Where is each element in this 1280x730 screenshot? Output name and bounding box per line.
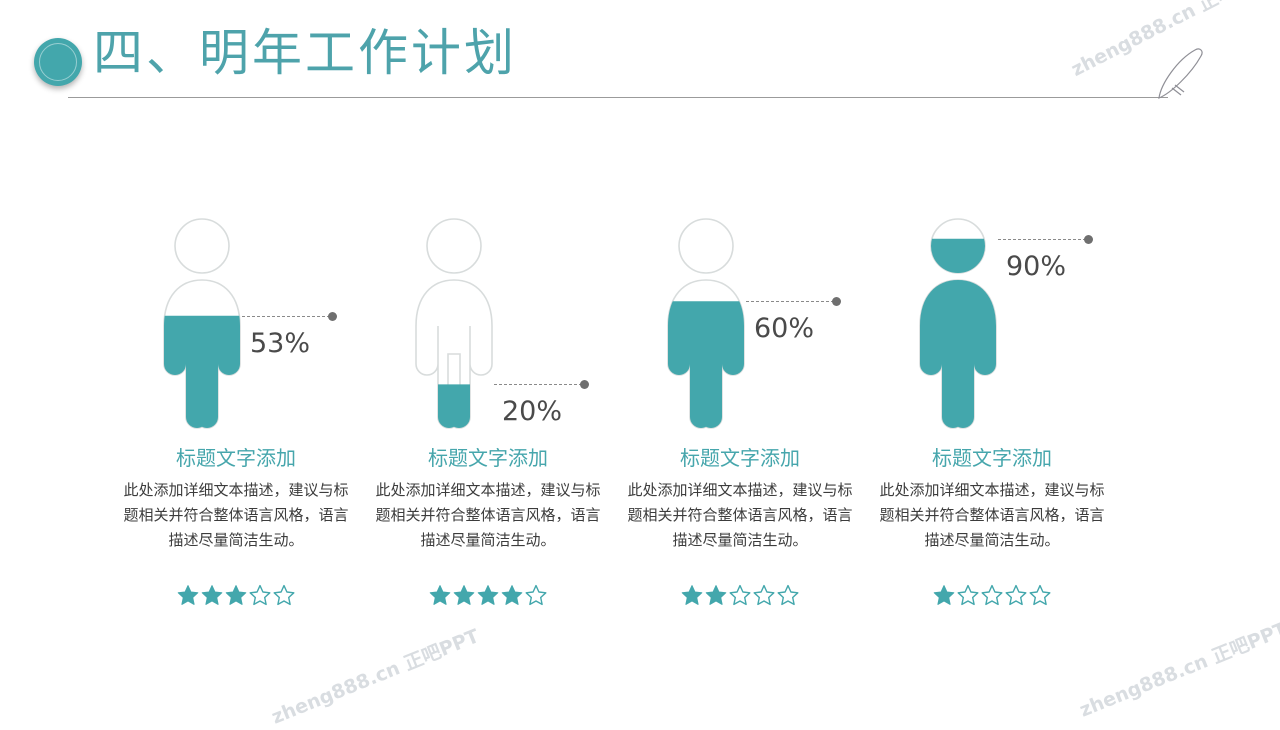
leader-line: [494, 384, 582, 386]
column-body-text: 此处添加详细文本描述，建议与标题相关并符合整体语言风格，语言描述尽量简洁生动。: [626, 478, 854, 553]
percent-label: 53%: [250, 328, 310, 359]
leader-dot-marker: [1084, 235, 1093, 244]
leader-line: [998, 239, 1086, 241]
leader-line: [746, 301, 834, 303]
slide-header: 四、明年工作计划: [0, 0, 1280, 110]
rating-stars[interactable]: [614, 583, 866, 607]
percent-label: 90%: [1006, 251, 1066, 282]
person-pictogram: 60%: [634, 214, 846, 434]
leader-line: [242, 316, 330, 318]
person-pictogram: 20%: [382, 214, 594, 434]
percent-label: 20%: [502, 396, 562, 427]
pictogram-columns: 53%标题文字添加此处添加详细文本描述，建议与标题相关并符合整体语言风格，语言描…: [110, 200, 1180, 660]
percent-label: 60%: [754, 313, 814, 344]
pictogram-column: 20%标题文字添加此处添加详细文本描述，建议与标题相关并符合整体语言风格，语言描…: [362, 200, 614, 660]
pictogram-column: 60%标题文字添加此处添加详细文本描述，建议与标题相关并符合整体语言风格，语言描…: [614, 200, 866, 660]
column-body-text: 此处添加详细文本描述，建议与标题相关并符合整体语言风格，语言描述尽量简洁生动。: [374, 478, 602, 553]
person-pictogram: 53%: [130, 214, 342, 434]
column-heading: 标题文字添加: [614, 442, 866, 471]
column-heading: 标题文字添加: [362, 442, 614, 471]
column-heading: 标题文字添加: [110, 442, 362, 471]
pictogram-column: 53%标题文字添加此处添加详细文本描述，建议与标题相关并符合整体语言风格，语言描…: [110, 200, 362, 660]
rating-stars[interactable]: [110, 583, 362, 607]
circle-bullet-icon: [34, 38, 82, 86]
pictogram-column: 90%标题文字添加此处添加详细文本描述，建议与标题相关并符合整体语言风格，语言描…: [866, 200, 1118, 660]
header-divider: [68, 97, 1168, 98]
pen-icon: [1155, 44, 1225, 104]
page-title: 四、明年工作计划: [93, 21, 517, 85]
rating-stars[interactable]: [866, 583, 1118, 607]
leader-dot-marker: [328, 312, 337, 321]
person-pictogram: 90%: [886, 214, 1098, 434]
column-body-text: 此处添加详细文本描述，建议与标题相关并符合整体语言风格，语言描述尽量简洁生动。: [122, 478, 350, 553]
rating-stars[interactable]: [362, 583, 614, 607]
column-body-text: 此处添加详细文本描述，建议与标题相关并符合整体语言风格，语言描述尽量简洁生动。: [878, 478, 1106, 553]
column-heading: 标题文字添加: [866, 442, 1118, 471]
